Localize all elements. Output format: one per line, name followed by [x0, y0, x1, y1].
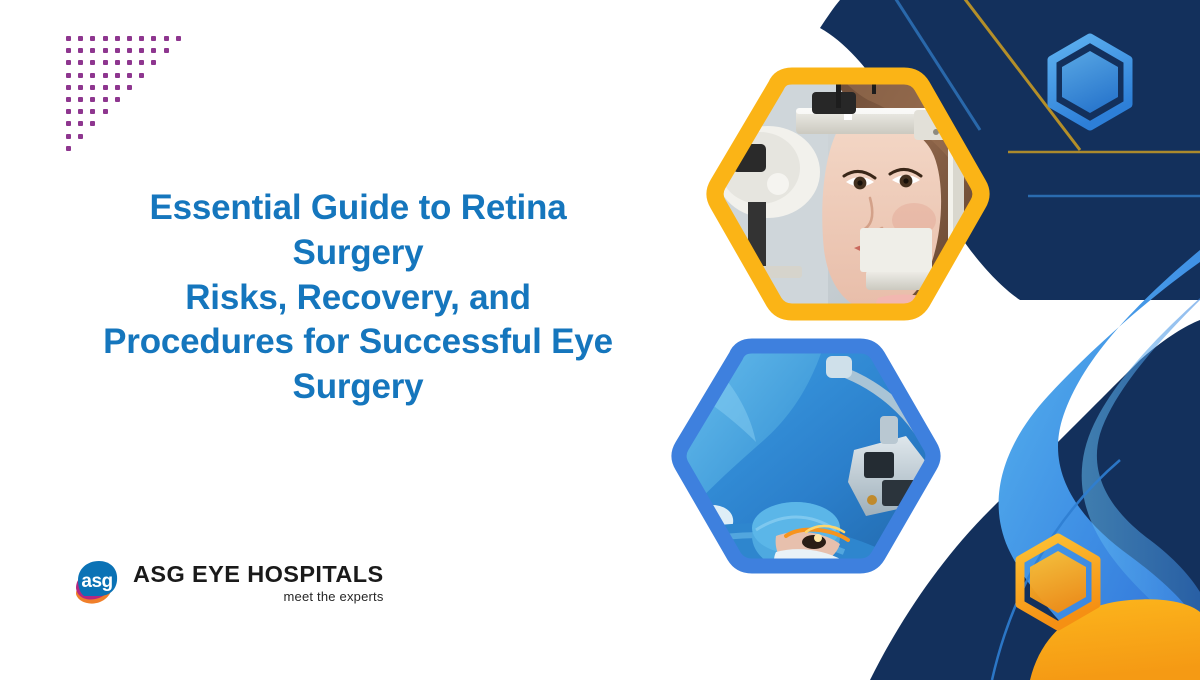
dot: [176, 36, 181, 41]
dot: [127, 60, 132, 65]
logo-text-block: ASG EYE HOSPITALS meet the experts: [133, 562, 384, 606]
dot: [103, 48, 108, 53]
dot: [127, 48, 132, 53]
dot: [90, 73, 95, 78]
page-title-line-2: Surgery: [28, 231, 688, 276]
dot: [78, 85, 83, 90]
dot-grid-row: [66, 97, 196, 102]
dot-grid-row: [66, 36, 196, 41]
dot: [127, 85, 132, 90]
dot: [66, 97, 71, 102]
dot: [164, 36, 169, 41]
dot: [115, 48, 120, 53]
dot: [90, 109, 95, 114]
dot: [139, 60, 144, 65]
dot: [151, 48, 156, 53]
dot: [103, 85, 108, 90]
primary-photo-content: [688, 58, 1008, 332]
hexagon-outline-bottom-right: [1020, 538, 1096, 626]
dot: [90, 85, 95, 90]
dot: [139, 73, 144, 78]
logo-tagline: meet the experts: [284, 588, 384, 606]
dot: [103, 109, 108, 114]
logo-company-name: ASG EYE HOSPITALS: [133, 562, 384, 587]
page-title-line-3: Risks, Recovery, and: [28, 276, 688, 321]
dot-grid-row: [66, 48, 196, 53]
dot: [90, 97, 95, 102]
asg-logo-mark: asg: [68, 556, 124, 612]
logo[interactable]: asg ASG EYE HOSPITALS meet the experts: [68, 556, 384, 612]
dot-grid-row: [66, 109, 196, 114]
dot: [78, 73, 83, 78]
page-title: Essential Guide to RetinaSurgeryRisks, R…: [28, 186, 688, 410]
dot-grid-row: [66, 73, 196, 78]
dot: [151, 60, 156, 65]
dot: [115, 60, 120, 65]
page-title-line-5: Surgery: [28, 365, 688, 410]
dot-grid-row: [66, 60, 196, 65]
dot: [139, 36, 144, 41]
dot: [78, 134, 83, 139]
dot: [164, 48, 169, 53]
logo-mark-text: asg: [81, 571, 112, 592]
dot: [66, 134, 71, 139]
dot: [66, 73, 71, 78]
dot: [115, 36, 120, 41]
dot: [103, 36, 108, 41]
page-title-line-4: Procedures for Successful Eye: [28, 320, 688, 365]
dot: [127, 36, 132, 41]
dot-grid-row: [66, 85, 196, 90]
dot: [66, 85, 71, 90]
dot: [115, 73, 120, 78]
dot: [90, 36, 95, 41]
dot: [151, 36, 156, 41]
dot: [78, 97, 83, 102]
dot: [103, 73, 108, 78]
dot: [115, 85, 120, 90]
dot: [103, 97, 108, 102]
dot: [66, 109, 71, 114]
dot: [66, 146, 71, 151]
dot: [139, 48, 144, 53]
dot: [78, 36, 83, 41]
page-title-line-1: Essential Guide to Retina: [28, 186, 688, 231]
dot: [66, 60, 71, 65]
dot: [90, 121, 95, 126]
secondary-hexagon-image: [668, 330, 980, 654]
dot: [103, 60, 108, 65]
dot: [78, 60, 83, 65]
dot: [90, 48, 95, 53]
dot: [66, 121, 71, 126]
dot: [127, 73, 132, 78]
dot: [115, 97, 120, 102]
dot-grid-row: [66, 121, 196, 126]
banner-canvas: Essential Guide to RetinaSurgeryRisks, R…: [0, 0, 1200, 680]
dot: [78, 109, 83, 114]
dot: [66, 36, 71, 41]
dot: [90, 60, 95, 65]
dot: [78, 121, 83, 126]
dot-grid-decoration: [66, 36, 196, 166]
dot: [66, 48, 71, 53]
dot-grid-row: [66, 134, 196, 139]
dot-grid-row: [66, 146, 196, 151]
dot: [78, 48, 83, 53]
